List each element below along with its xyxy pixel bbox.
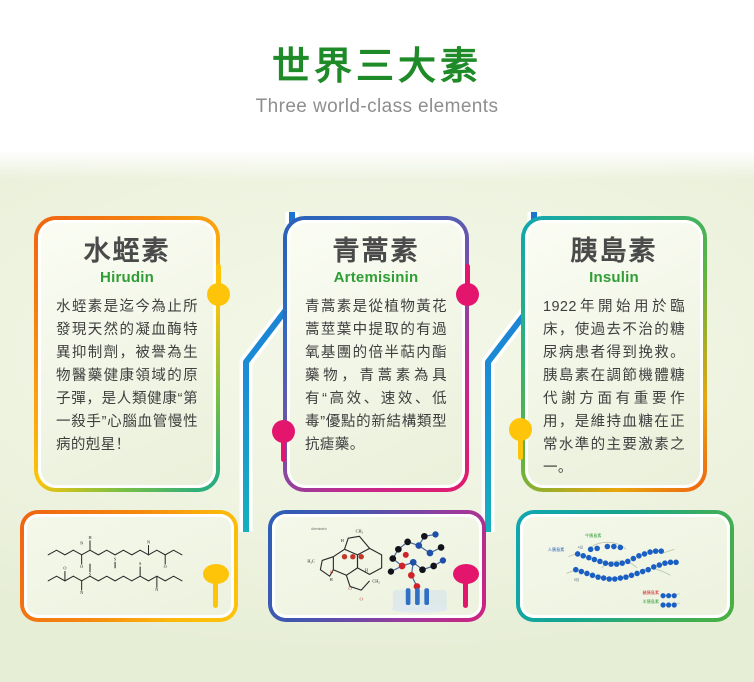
panel-caption: Artemisinin [311,527,327,531]
card-hirudin[interactable]: 水蛭素 Hirudin 水蛭素是迄今為止所發現天然的凝血酶特異抑制劑，被譽為生物… [34,216,220,492]
card-title: 青蒿素 [305,234,447,268]
artemisinin-structure-diagram: Artemisinin O O O [272,514,482,618]
svg-text:H: H [341,538,344,543]
svg-text:H₃C: H₃C [307,558,315,563]
svg-text:O: O [63,566,66,571]
card-body-text: 青蒿素是從植物黃花蒿莖葉中提取的有過氧基團的倍半萜内酯藥物，青蒿素為具有“高效、… [305,296,447,457]
svg-text:CH₃: CH₃ [372,579,380,584]
svg-text:S: S [139,561,142,566]
panel-insulin-figure[interactable]: 牛胰島素 人胰島素 豬胰島素 羊胰島素 A鏈 B鏈 [516,510,734,622]
page-title-cn: 世界三大素 [272,44,482,90]
svg-text:CH₃: CH₃ [356,529,364,534]
card-insulin[interactable]: 胰島素 Insulin 1922年開始用於臨床，使過去不治的糖尿病患者得到挽救。… [521,216,707,492]
page-subtitle-en: Three world-class elements [256,96,499,118]
card-body-text: 水蛭素是迄今為止所發現天然的凝血酶特異抑制劑，被譽為生物醫藥健康領域的原子彈，是… [56,296,198,457]
svg-text:H: H [330,577,333,582]
svg-text:O: O [330,570,334,575]
svg-text:H: H [88,535,91,540]
svg-text:N: N [80,541,83,546]
label-porcine-insulin: 豬胰島素 [643,589,659,595]
svg-text:S: S [89,571,92,576]
svg-text:N: N [80,590,83,595]
page-header: 世界三大素 Three world-class elements [0,0,754,152]
card-subtitle: Artemisinin [305,269,447,286]
card-title: 水蛭素 [56,234,198,268]
pin-card2-left [272,420,295,462]
card-title: 胰島素 [543,234,685,268]
pin-card1-right [207,264,230,306]
label-bovine-insulin: 牛胰島素 [585,532,601,538]
card-subtitle: Hirudin [56,269,198,286]
card-subtitle: Insulin [543,269,685,286]
content-stage: 水蛭素 Hirudin 水蛭素是迄今為止所發現天然的凝血酶特異抑制劑，被譽為生物… [0,152,754,682]
svg-text:S: S [114,556,117,561]
label-ovine-insulin: 羊胰島素 [643,598,659,604]
pin-panel2-right [454,564,477,608]
insulin-chain-diagram: 牛胰島素 人胰島素 豬胰島素 羊胰島素 A鏈 B鏈 [520,514,730,618]
pin-card3-left [509,418,532,460]
card-body-text: 1922年開始用於臨床，使過去不治的糖尿病患者得到挽救。胰島素在調節機體糖代謝方… [543,296,685,480]
label-human-insulin: 人胰島素 [548,546,564,552]
svg-text:A鏈: A鏈 [578,544,584,549]
svg-text:H: H [365,568,368,573]
svg-text:N: N [147,540,150,545]
card-artemisinin[interactable]: 青蒿素 Artemisinin 青蒿素是從植物黃花蒿莖葉中提取的有過氧基團的倍半… [283,216,469,492]
svg-text:O: O [360,597,364,602]
svg-text:O: O [348,587,352,592]
svg-text:N: N [155,587,158,592]
hirudin-structure-diagram: N O H N O O N S N S S [24,514,234,618]
svg-text:O: O [80,564,83,569]
pin-panel1-right [204,564,227,608]
svg-text:B鏈: B鏈 [574,577,580,582]
pin-card2-right [456,264,479,306]
svg-text:O: O [164,564,167,569]
